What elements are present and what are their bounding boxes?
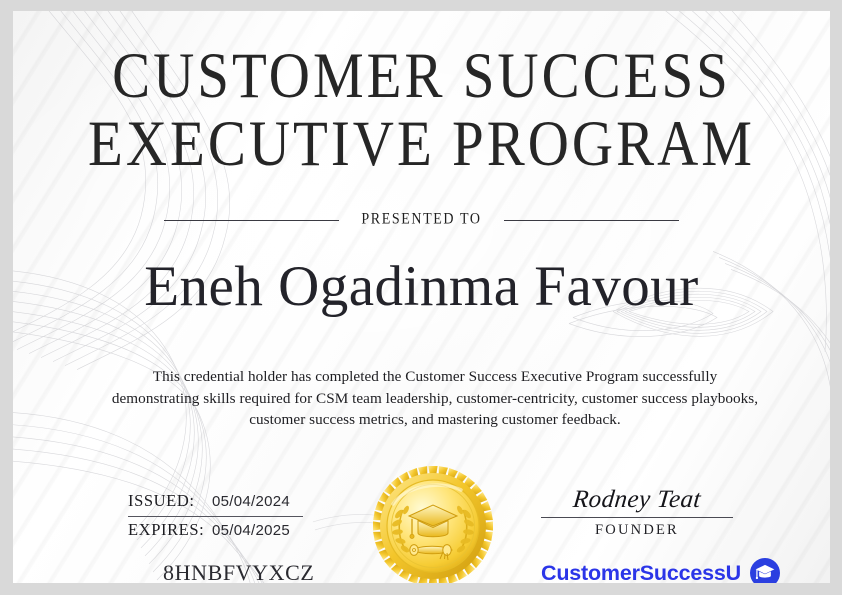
signature-role-label: FOUNDER (541, 522, 733, 539)
expires-label: EXPIRES: (128, 520, 206, 540)
graduation-cap-icon (750, 558, 780, 583)
issued-value: 05/04/2024 (206, 493, 290, 510)
presented-to-label: PRESENTED TO (361, 211, 481, 229)
page-title-line-1: CUSTOMER SUCCESS (13, 38, 830, 115)
expires-value: 05/04/2025 (206, 522, 290, 539)
signature-name: Rodney Teat (539, 485, 734, 515)
signature-divider (541, 517, 733, 518)
page-title-line-2: EXECUTIVE PROGRAM (13, 106, 830, 183)
gold-seal-icon (371, 463, 495, 583)
certificate-body-text: This credential holder has completed the… (109, 366, 761, 431)
dates-divider (128, 516, 303, 517)
divider-right (504, 220, 679, 221)
issued-row: ISSUED: 05/04/2024 (128, 491, 323, 515)
certificate-frame: CUSTOMER SUCCESS EXECUTIVE PROGRAM PRESE… (0, 0, 842, 595)
certificate-content: CUSTOMER SUCCESS EXECUTIVE PROGRAM PRESE… (13, 11, 830, 583)
dates-block: ISSUED: 05/04/2024 EXPIRES: 05/04/2025 (128, 491, 323, 544)
brand-name: CustomerSuccessU (541, 561, 741, 584)
expires-row: EXPIRES: 05/04/2025 (128, 520, 323, 544)
credential-id: 8HNBFVYXCZ (163, 560, 314, 583)
presented-to-row: PRESENTED TO (13, 212, 830, 228)
issued-label: ISSUED: (128, 491, 206, 511)
brand-logo: CustomerSuccessU (541, 558, 780, 583)
certificate-title-block: CUSTOMER SUCCESS EXECUTIVE PROGRAM (13, 38, 830, 174)
recipient-name: Eneh Ogadinma Favour (13, 254, 830, 320)
certificate-footer: ISSUED: 05/04/2024 EXPIRES: 05/04/2025 8… (13, 463, 830, 583)
signature-block: Rodney Teat FOUNDER (541, 485, 733, 539)
certificate-page: CUSTOMER SUCCESS EXECUTIVE PROGRAM PRESE… (13, 11, 830, 583)
divider-left (164, 220, 339, 221)
